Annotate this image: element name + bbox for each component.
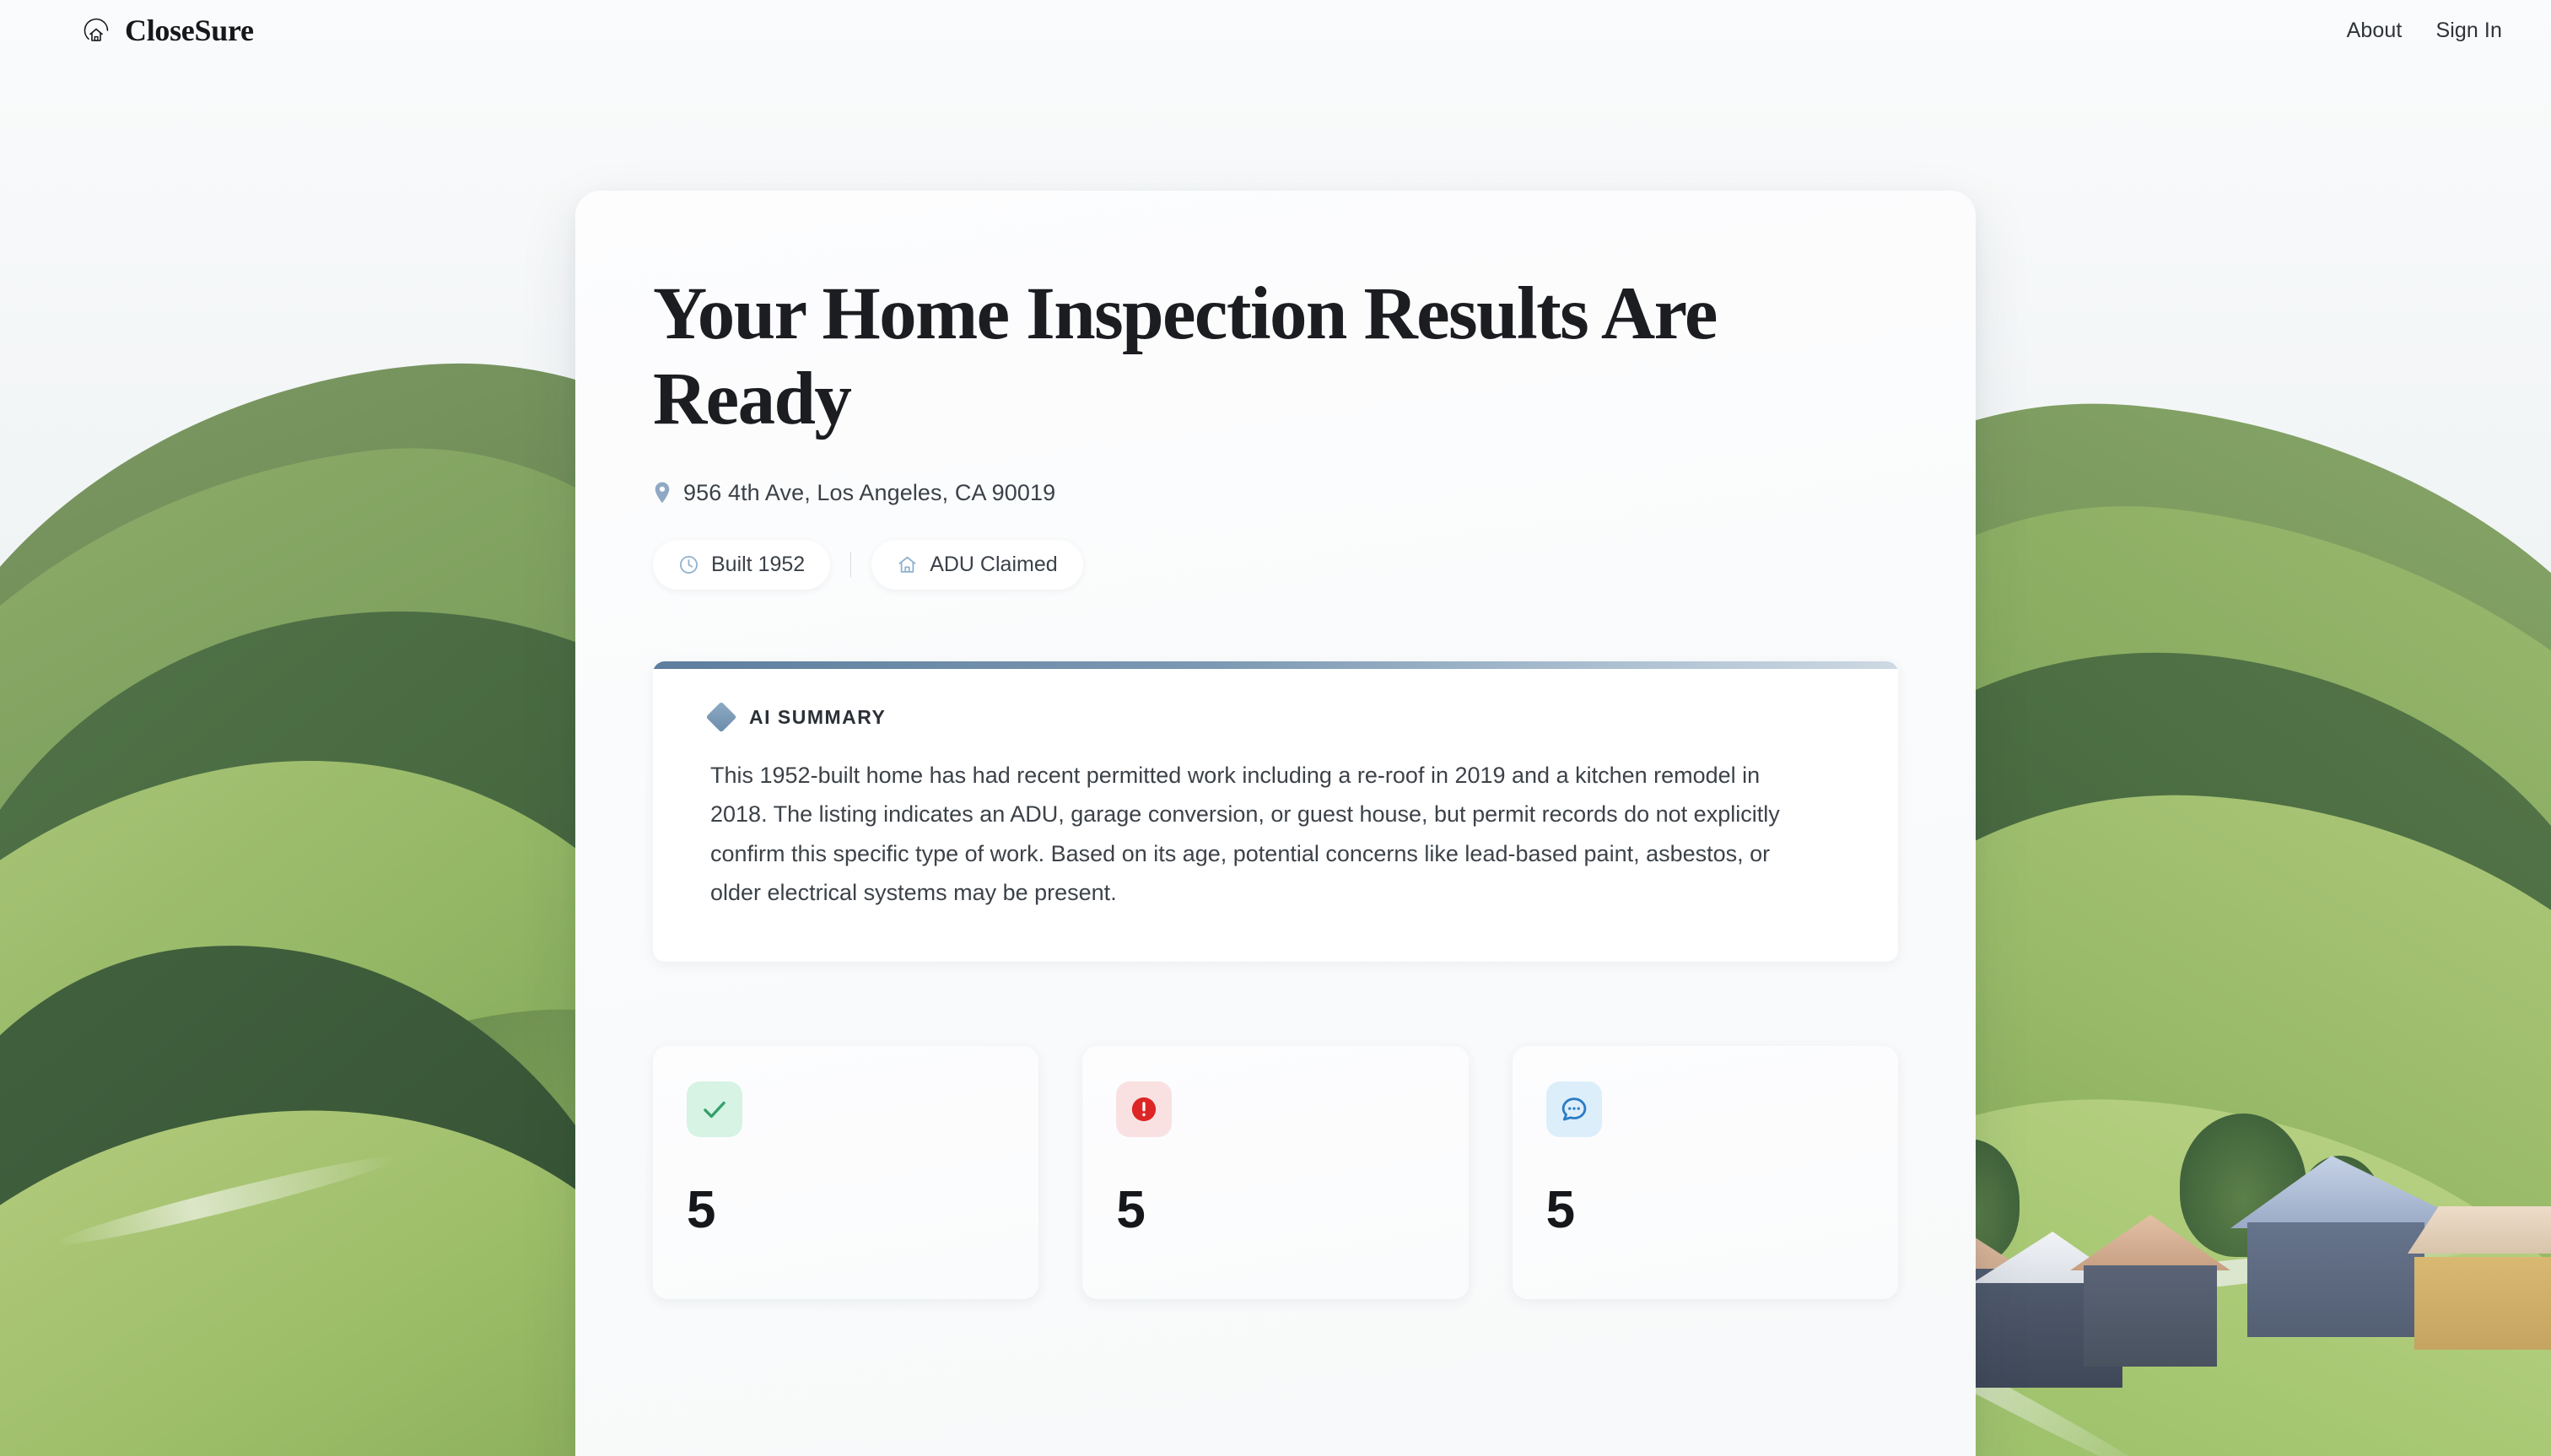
brand-logo[interactable]: CloseSure: [81, 13, 254, 48]
ai-summary-card: AI SUMMARY This 1952-built home has had …: [653, 661, 1898, 962]
house-in-circle-icon: [81, 15, 111, 46]
chat-bubble-icon: [1546, 1081, 1602, 1137]
home-icon: [897, 554, 918, 575]
clock-icon: [678, 554, 699, 575]
badge-separator: [850, 552, 851, 577]
top-navigation-bar: CloseSure About Sign In: [0, 0, 2551, 61]
nav-link-sign-in[interactable]: Sign In: [2435, 19, 2502, 43]
property-badges: Built 1952 ADU Claimed: [653, 540, 1898, 590]
stat-card-issues[interactable]: 5: [1082, 1046, 1468, 1299]
stat-value-issues: 5: [1116, 1184, 1434, 1237]
ai-summary-body: This 1952-built home has had recent perm…: [710, 756, 1807, 913]
badge-adu-claimed[interactable]: ADU Claimed: [871, 540, 1082, 590]
alert-circle-icon: [1116, 1081, 1172, 1137]
stat-cards-grid: 5 5 5: [653, 1046, 1898, 1299]
stat-card-passed[interactable]: 5: [653, 1046, 1038, 1299]
address-text: 956 4th Ave, Los Angeles, CA 90019: [683, 480, 1055, 506]
badge-built-year[interactable]: Built 1952: [653, 540, 830, 590]
nav-links: About Sign In: [2347, 19, 2502, 43]
badge-adu-claimed-label: ADU Claimed: [930, 553, 1057, 577]
nav-link-about[interactable]: About: [2347, 19, 2403, 43]
diamond-icon: [706, 702, 737, 733]
ai-summary-label: AI SUMMARY: [749, 706, 886, 729]
badge-built-year-label: Built 1952: [711, 553, 805, 577]
map-pin-icon: [653, 481, 671, 504]
page-title: Your Home Inspection Results Are Ready: [653, 272, 1898, 443]
check-icon: [687, 1081, 742, 1137]
brand-name: CloseSure: [125, 13, 254, 48]
ai-summary-accent-bar: [653, 661, 1898, 669]
stat-value-passed: 5: [687, 1184, 1005, 1237]
stat-value-comments: 5: [1546, 1184, 1864, 1237]
stat-card-comments[interactable]: 5: [1513, 1046, 1898, 1299]
property-address: 956 4th Ave, Los Angeles, CA 90019: [653, 480, 1898, 506]
report-card: Your Home Inspection Results Are Ready 9…: [575, 191, 1976, 1456]
